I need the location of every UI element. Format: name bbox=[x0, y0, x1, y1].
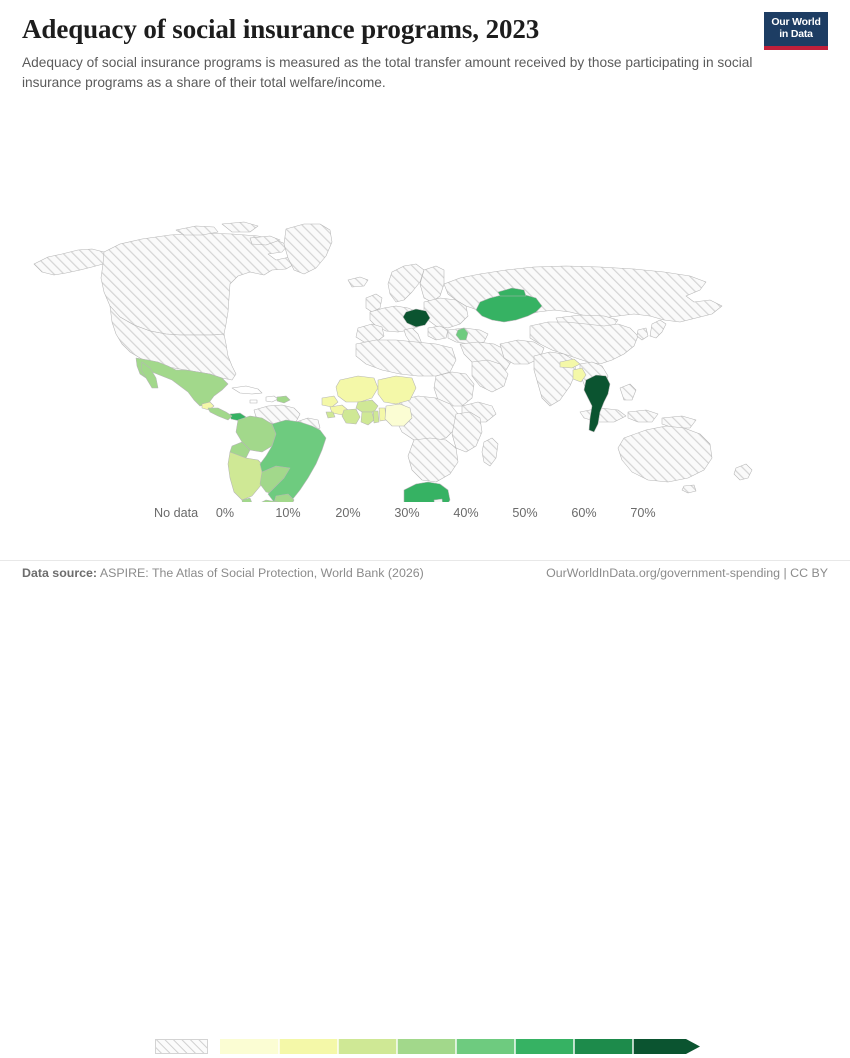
footer-divider bbox=[0, 560, 850, 561]
data-source: Data source: ASPIRE: The Atlas of Social… bbox=[22, 566, 424, 580]
country-togo[interactable] bbox=[373, 411, 379, 423]
country-burkina-faso[interactable] bbox=[356, 400, 378, 412]
legend-bin-50-60[interactable] bbox=[515, 1039, 574, 1054]
country-peru[interactable] bbox=[228, 452, 266, 500]
country-central-america[interactable] bbox=[208, 408, 232, 420]
legend-bin-30-40[interactable] bbox=[397, 1039, 456, 1054]
page-title: Adequacy of social insurance programs, 2… bbox=[22, 14, 828, 45]
country-jamaica bbox=[250, 400, 257, 403]
country-madagascar[interactable] bbox=[482, 438, 498, 466]
legend-tick-20: 20% bbox=[335, 506, 360, 520]
data-source-text: ASPIRE: The Atlas of Social Protection, … bbox=[100, 566, 424, 580]
legend-bin-0-10[interactable] bbox=[220, 1039, 279, 1054]
country-indonesia-1[interactable] bbox=[580, 408, 626, 422]
legend-no-data-swatch[interactable] bbox=[155, 1039, 208, 1054]
map-countries bbox=[34, 222, 752, 502]
legend-bin-20-30[interactable] bbox=[338, 1039, 397, 1054]
chart-subtitle: Adequacy of social insurance programs is… bbox=[22, 53, 757, 93]
legend-tick-50: 50% bbox=[512, 506, 537, 520]
country-scandinavia[interactable] bbox=[388, 264, 424, 302]
attribution-link[interactable]: OurWorldInData.org/government-spending |… bbox=[546, 566, 828, 580]
country-sierra-leone[interactable] bbox=[326, 412, 335, 418]
country-canada[interactable] bbox=[101, 233, 298, 335]
country-greece-balkans[interactable] bbox=[428, 326, 448, 340]
country-thailand[interactable] bbox=[584, 375, 610, 432]
map-legend: No data 0% 10% 20% 30% 40% 50% 60% 70% bbox=[0, 506, 850, 556]
country-south-africa[interactable] bbox=[404, 482, 450, 502]
chart-footer: Data source: ASPIRE: The Atlas of Social… bbox=[22, 566, 828, 588]
country-korea[interactable] bbox=[637, 328, 648, 340]
logo-line-2: in Data bbox=[779, 28, 813, 40]
country-haiti[interactable] bbox=[266, 396, 278, 402]
legend-bin-40-50[interactable] bbox=[456, 1039, 515, 1054]
country-finland-baltics[interactable] bbox=[420, 266, 444, 302]
country-japan[interactable] bbox=[650, 320, 666, 338]
country-north-africa[interactable] bbox=[356, 340, 456, 376]
legend-bin-10-20[interactable] bbox=[279, 1039, 338, 1054]
country-southern-africa[interactable] bbox=[408, 438, 458, 482]
legend-bin-70-plus-arrow[interactable] bbox=[633, 1039, 700, 1054]
country-cote-divoire[interactable] bbox=[342, 409, 360, 424]
world-choropleth-map[interactable] bbox=[0, 112, 850, 502]
legend-bin-60-70[interactable] bbox=[574, 1039, 633, 1054]
country-greenland[interactable] bbox=[284, 224, 332, 274]
data-source-label: Data source: bbox=[22, 566, 97, 580]
country-mali[interactable] bbox=[336, 376, 378, 402]
country-east-africa[interactable] bbox=[452, 412, 482, 452]
legend-labels: No data 0% 10% 20% 30% 40% 50% 60% 70% bbox=[0, 506, 850, 524]
map-svg bbox=[0, 112, 850, 502]
logo-line-1: Our World bbox=[771, 16, 820, 28]
country-alaska[interactable] bbox=[34, 249, 110, 275]
country-cuba[interactable] bbox=[232, 386, 262, 394]
country-canada-arctic-2 bbox=[222, 222, 258, 232]
country-tasmania bbox=[682, 485, 696, 493]
chart-page: Adequacy of social insurance programs, 2… bbox=[0, 0, 850, 600]
country-iberia[interactable] bbox=[356, 324, 384, 342]
legend-tick-10: 10% bbox=[275, 506, 300, 520]
our-world-in-data-logo[interactable]: Our World in Data bbox=[764, 12, 828, 50]
no-data-hatch-icon bbox=[156, 1040, 207, 1053]
legend-tick-40: 40% bbox=[453, 506, 478, 520]
country-ghana[interactable] bbox=[361, 412, 374, 425]
country-niger[interactable] bbox=[378, 376, 416, 404]
legend-tick-0: 0% bbox=[216, 506, 234, 520]
legend-tick-60: 60% bbox=[571, 506, 596, 520]
legend-tick-30: 30% bbox=[394, 506, 419, 520]
legend-no-data-label: No data bbox=[154, 506, 198, 520]
country-indonesia-2[interactable] bbox=[628, 410, 658, 422]
country-philippines[interactable] bbox=[620, 384, 636, 400]
country-turkey[interactable] bbox=[448, 328, 488, 344]
legend-tick-70: 70% bbox=[630, 506, 655, 520]
legend-color-bar[interactable] bbox=[220, 1039, 700, 1054]
country-iceland[interactable] bbox=[348, 277, 368, 287]
country-australia[interactable] bbox=[618, 426, 712, 482]
country-senegal[interactable] bbox=[322, 396, 338, 407]
country-dominican-republic[interactable] bbox=[277, 396, 290, 403]
chart-header: Adequacy of social insurance programs, 2… bbox=[22, 14, 828, 93]
country-new-zealand[interactable] bbox=[734, 464, 752, 480]
